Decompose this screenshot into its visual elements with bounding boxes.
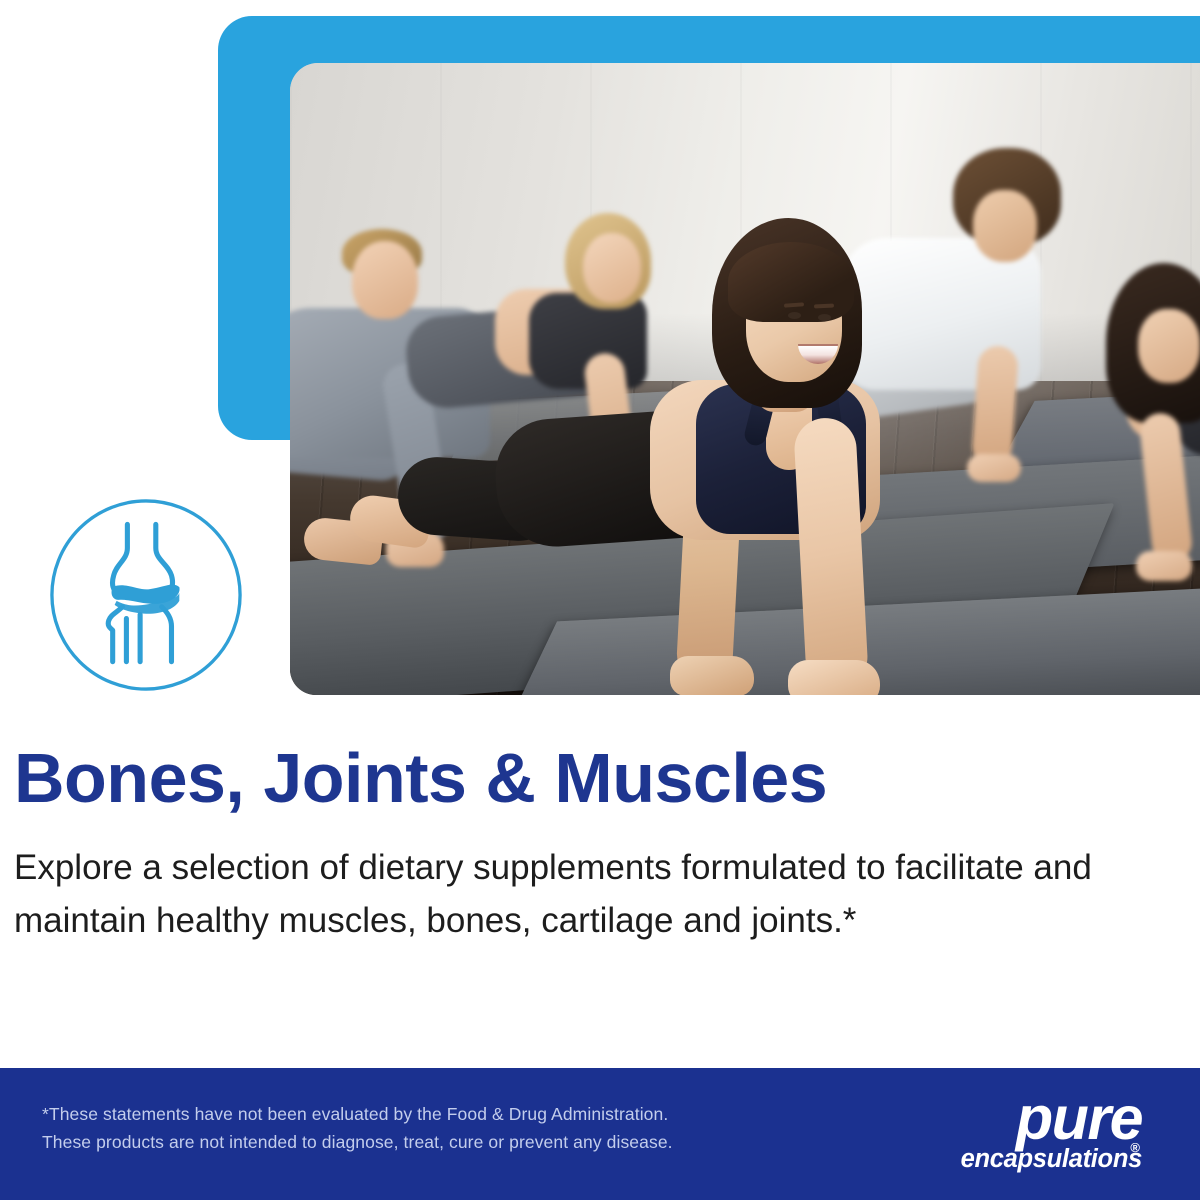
head	[1138, 309, 1200, 383]
eye	[788, 312, 801, 319]
pure-encapsulations-logo: pure encapsulations ®	[932, 1090, 1142, 1186]
hand	[1136, 551, 1192, 581]
disclaimer-text: *These statements have not been evaluate…	[42, 1100, 673, 1157]
head	[352, 241, 418, 319]
hair-top	[728, 242, 854, 322]
disclaimer-line-2: These products are not intended to diagn…	[42, 1128, 673, 1156]
footer-bar: *These statements have not been evaluate…	[0, 1068, 1200, 1200]
far-hand	[670, 656, 754, 695]
page-description: Explore a selection of dietary supplemen…	[14, 841, 1124, 947]
hero-photo	[290, 63, 1200, 695]
logo-wordmark-primary: pure	[932, 1090, 1142, 1147]
hero-text-block: Bones, Joints & Muscles Explore a select…	[14, 742, 1134, 947]
knee-joint-icon	[48, 497, 244, 693]
logo-wordmark-secondary: encapsulations	[932, 1145, 1142, 1174]
registered-trademark-icon: ®	[1130, 1140, 1140, 1155]
near-hand	[788, 660, 880, 695]
fitness-class-photo	[290, 63, 1200, 695]
page-title: Bones, Joints & Muscles	[14, 742, 1134, 815]
disclaimer-line-1: *These statements have not been evaluate…	[42, 1100, 673, 1128]
eye	[818, 314, 831, 321]
person-foreground-woman-plank	[500, 208, 1120, 695]
